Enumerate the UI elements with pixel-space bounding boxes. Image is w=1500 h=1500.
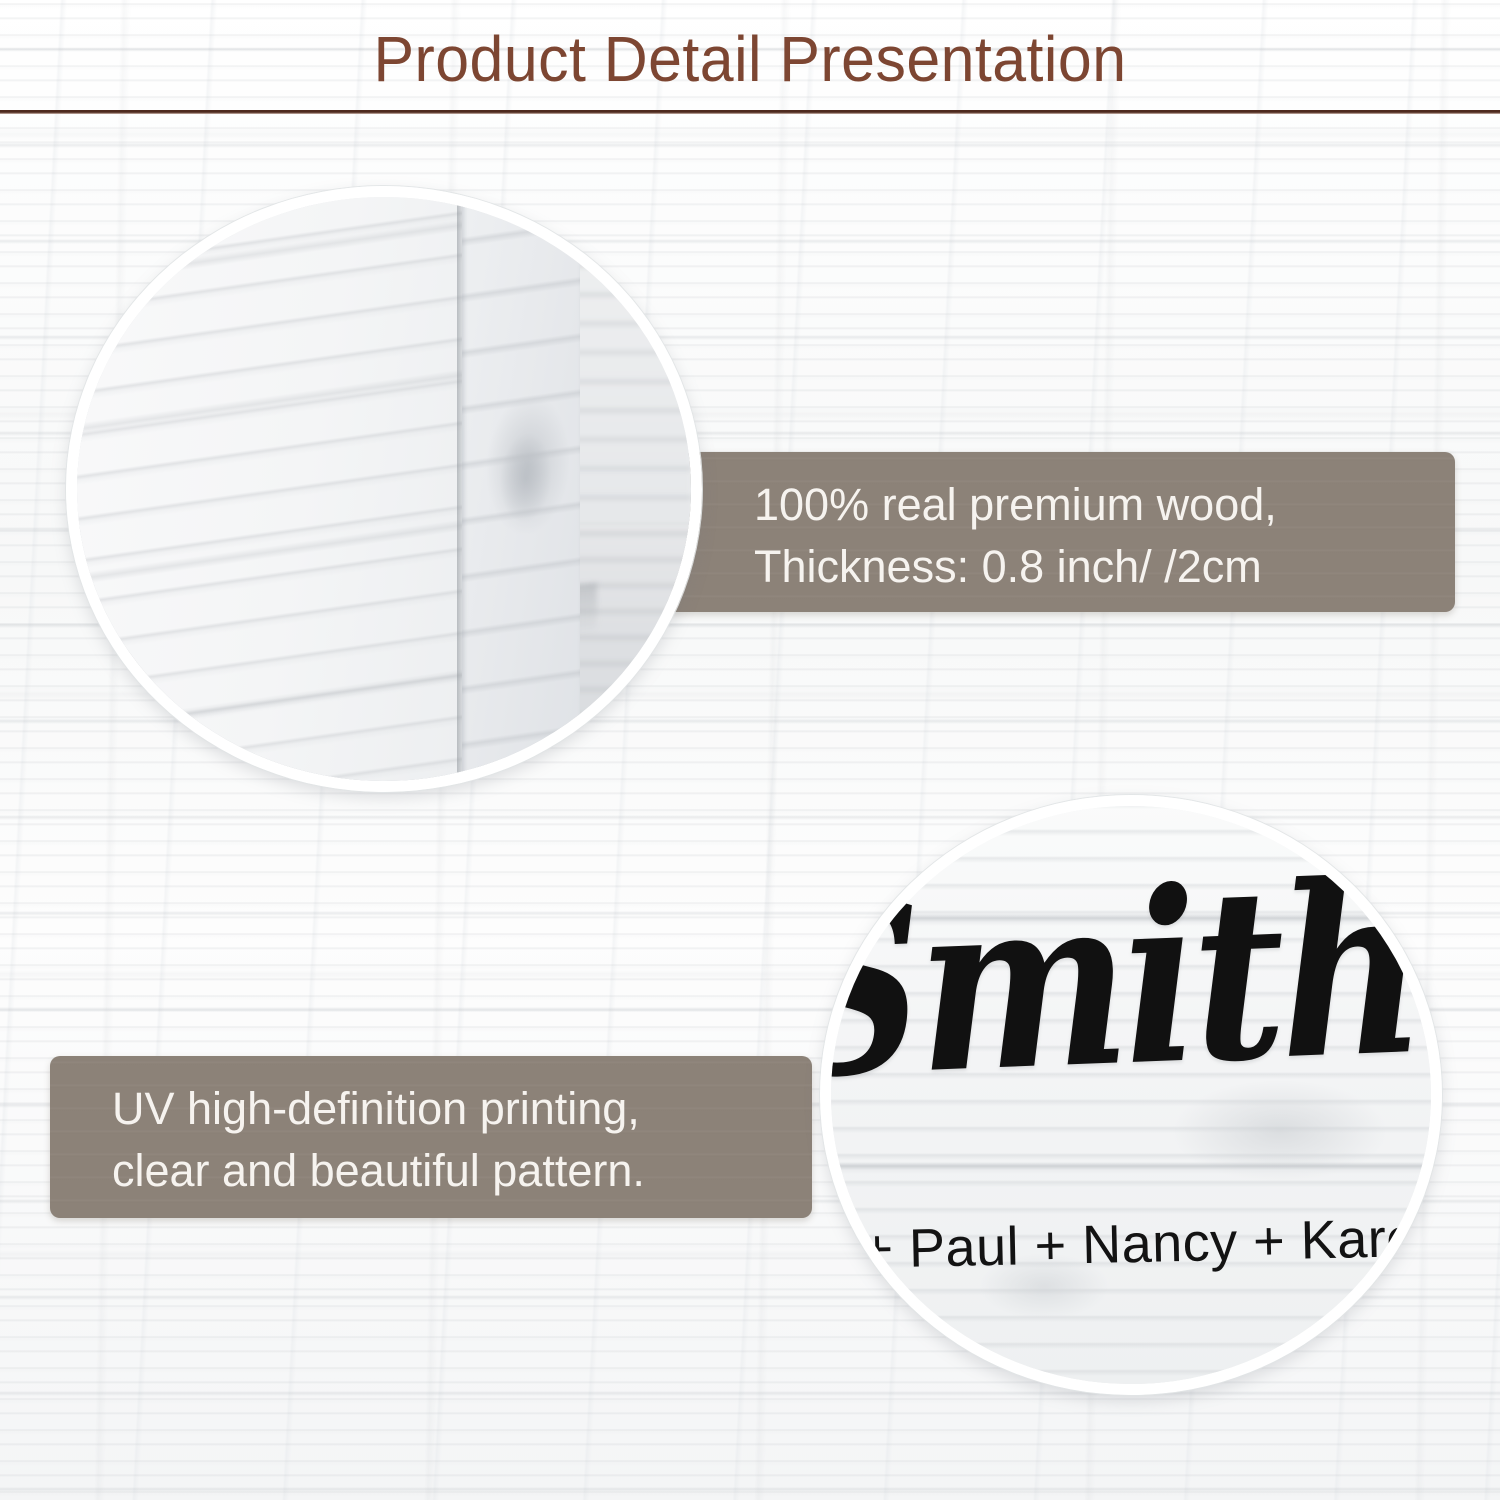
header-divider <box>0 110 1500 114</box>
board-front-face <box>77 197 477 781</box>
callout-printing-line1: UV high-definition printing, <box>112 1078 812 1140</box>
photo-printed-sign-inner: Smith F el + Paul + Nancy + Kare <box>831 806 1431 1384</box>
page-header: Product Detail Presentation <box>0 0 1500 113</box>
product-detail-page: Product Detail Presentation 100% real pr… <box>0 0 1500 1500</box>
callout-printing-quality: UV high-definition printing, clear and b… <box>50 1056 812 1218</box>
sign-family-script-text: Smith F <box>831 847 1431 1112</box>
photo-printed-sign-closeup: Smith F el + Paul + Nancy + Kare <box>820 795 1442 1395</box>
photo-board-edge-inner <box>77 197 691 781</box>
callout-material-thickness: 100% real premium wood, Thickness: 0.8 i… <box>660 452 1455 612</box>
page-title: Product Detail Presentation <box>38 22 1463 96</box>
board-thickness-edge <box>462 197 580 781</box>
callout-material-line1: 100% real premium wood, <box>754 474 1455 536</box>
photo-board-edge-closeup <box>66 186 702 792</box>
sign-member-names-text: el + Paul + Nancy + Kare <box>831 1209 1431 1278</box>
callout-printing-line2: clear and beautiful pattern. <box>112 1140 812 1202</box>
callout-material-line2: Thickness: 0.8 inch/ /2cm <box>754 536 1455 598</box>
